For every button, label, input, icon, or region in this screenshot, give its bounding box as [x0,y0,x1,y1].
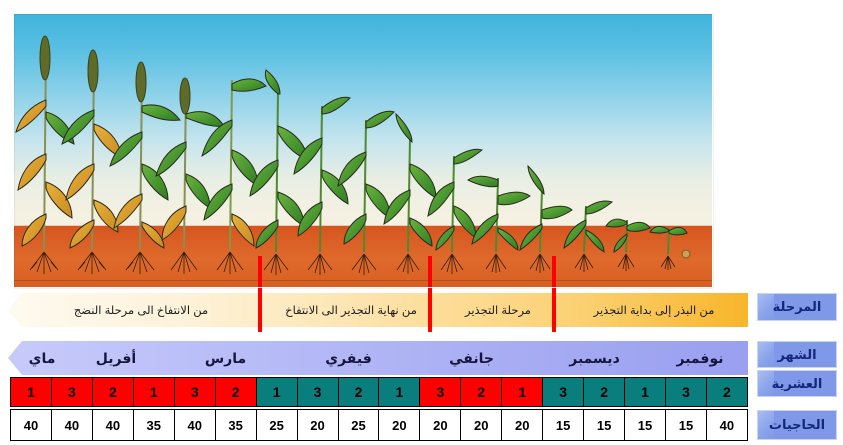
month-january: جانفي [410,341,533,375]
month-may: ماي [16,341,68,375]
needs-cell: 20 [379,410,420,440]
wheat-plants-illustration [14,14,712,287]
decade-cell: 3 [666,378,707,406]
row-label-decade: العشرية [757,370,837,397]
month-february: فيفري [287,341,410,375]
decade-cell: 3 [175,378,216,406]
decade-cell: 3 [420,378,461,406]
row-label-stage: المرحلة [757,293,837,321]
decade-cell: 1 [257,378,298,406]
needs-cell: 40 [175,410,216,440]
needs-cell: 35 [216,410,257,440]
stage-divider-2 [428,256,432,287]
decade-cell: 1 [625,378,666,406]
month-november: نوفمبر [656,341,744,375]
needs-cell: 40 [707,410,747,440]
stage-bar: من البذر إلى بداية التجذير مرحلة التجذير… [8,293,748,327]
stage-separator-3 [258,288,262,332]
decade-cell: 2 [216,378,257,406]
growth-stages-photo [14,14,712,287]
stage-separator-2 [428,288,432,332]
needs-cell: 25 [257,410,298,440]
decade-cell: 3 [543,378,584,406]
needs-cell: 40 [52,410,93,440]
decade-cell: 3 [52,378,93,406]
stage-segment-rooting-to-booting: من نهاية التجذير الى الانتفاخ [266,293,436,327]
decade-row: 132132132132132132 [10,377,748,407]
needs-row: 404040354035252025202020201515151540 [10,409,748,441]
row-label-stage-text: المرحلة [773,299,822,315]
row-label-needs: الحاجيات [757,410,837,440]
row-label-month: الشهر [757,341,837,368]
label-notch-month [758,342,774,367]
needs-cell: 15 [543,410,584,440]
decade-cell: 2 [707,378,747,406]
stage-segment-seeding: من البذر إلى بداية التجذير [560,293,748,327]
month-bar: نوفمبر ديسمبر جانفي فيفري مارس أفريل ماي [8,341,748,375]
month-april: أفريل [68,341,164,375]
decade-cell: 1 [11,378,52,406]
row-label-decade-text: العشرية [772,376,823,392]
needs-cell: 15 [666,410,707,440]
needs-cell: 40 [11,410,52,440]
needs-cell: 35 [134,410,175,440]
decade-cell: 2 [339,378,380,406]
row-label-month-text: الشهر [777,347,816,363]
needs-cell: 20 [420,410,461,440]
stage-separator-1 [552,288,556,332]
decade-cell: 2 [461,378,502,406]
needs-cell: 15 [625,410,666,440]
figure-root: من البذر إلى بداية التجذير مرحلة التجذير… [0,0,843,445]
stage-divider-3 [552,256,556,287]
stage-segment-rooting: مرحلة التجذير [436,293,560,327]
decade-cell: 3 [298,378,339,406]
stage-divider-1 [258,256,262,287]
decade-cell: 2 [93,378,134,406]
needs-cell: 40 [93,410,134,440]
decade-cell: 1 [379,378,420,406]
row-label-needs-text: الحاجيات [769,417,825,433]
needs-cell: 15 [584,410,625,440]
stage-segment-booting-to-ripening: من الانتفاخ الى مرحلة النضج [16,293,266,327]
decade-cell: 2 [584,378,625,406]
month-march: مارس [164,341,287,375]
needs-cell: 25 [339,410,380,440]
needs-cell: 20 [461,410,502,440]
label-notch-stage [758,294,774,320]
month-december: ديسمبر [533,341,656,375]
needs-cell: 20 [298,410,339,440]
needs-cell: 20 [502,410,543,440]
decade-cell: 1 [502,378,543,406]
decade-cell: 1 [134,378,175,406]
